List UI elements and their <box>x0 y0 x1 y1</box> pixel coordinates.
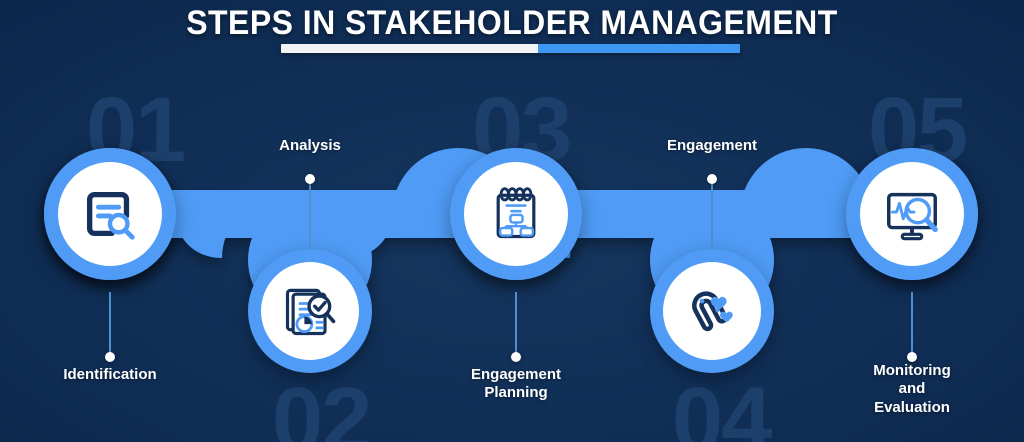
title-underline-blue-segment <box>538 44 740 53</box>
step-number-watermark-02: 02 <box>272 368 370 442</box>
document-search-icon <box>79 183 141 245</box>
page-title: STEPS IN STAKEHOLDER MANAGEMENT <box>31 4 994 43</box>
monitor-analytics-magnifier-icon <box>881 183 943 245</box>
step-leader-line-2 <box>309 180 311 250</box>
step-icon-container-3 <box>464 162 568 266</box>
step-leader-dot-2 <box>305 174 315 184</box>
step-node-3[interactable] <box>450 148 582 280</box>
step-icon-container-4 <box>663 262 761 360</box>
step-icon-container-2 <box>261 262 359 360</box>
step-leader-line-4 <box>711 180 713 250</box>
step-label-4: Engagement <box>622 137 802 155</box>
step-leader-dot-1 <box>105 352 115 362</box>
step-icon-container-5 <box>860 162 964 266</box>
step-node-2[interactable] <box>248 249 372 373</box>
title-underline <box>281 44 740 53</box>
step-leader-line-3 <box>515 292 517 354</box>
step-leader-line-1 <box>109 292 111 354</box>
step-leader-dot-3 <box>511 352 521 362</box>
step-leader-dot-5 <box>907 352 917 362</box>
step-label-3: Engagement Planning <box>426 366 606 403</box>
step-label-5: Monitoring and Evaluation <box>822 362 1002 417</box>
documents-magnifier-check-icon <box>280 281 340 341</box>
step-leader-line-5 <box>911 292 913 354</box>
step-label-1: Identification <box>20 366 200 384</box>
step-node-4[interactable] <box>650 249 774 373</box>
step-label-2: Analysis <box>220 137 400 155</box>
step-number-watermark-04: 04 <box>672 368 770 442</box>
infographic-canvas: STEPS IN STAKEHOLDER MANAGEMENT 01 02 03… <box>0 0 1024 442</box>
step-node-5[interactable] <box>846 148 978 280</box>
step-icon-container-1 <box>58 162 162 266</box>
step-node-1[interactable] <box>44 148 176 280</box>
step-leader-dot-4 <box>707 174 717 184</box>
title-underline-white-segment <box>281 44 538 53</box>
magnet-hearts-icon <box>683 282 741 340</box>
notepad-org-chart-icon <box>486 184 546 244</box>
